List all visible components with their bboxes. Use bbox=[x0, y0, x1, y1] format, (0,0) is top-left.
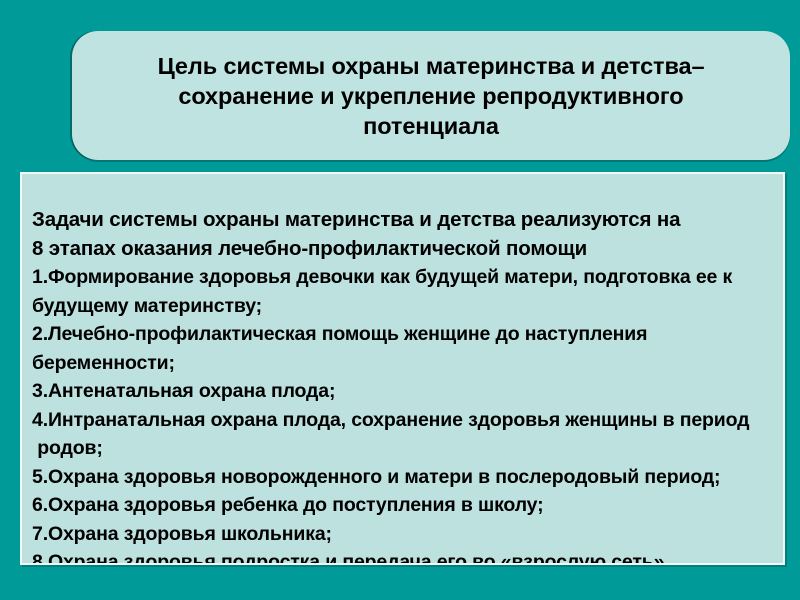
slide-title: Цель системы охраны материнства и детств… bbox=[111, 51, 751, 141]
list-item: 2.Лечебно-профилактическая помощь женщин… bbox=[32, 320, 779, 349]
content-text-block: Задачи системы охраны материнства и детс… bbox=[32, 206, 779, 565]
list-item: 4.Интранатальная охрана плода, сохранени… bbox=[32, 406, 779, 435]
list-item: 8.Охрана здоровья подростка и передача е… bbox=[32, 548, 779, 565]
title-panel: Цель системы охраны материнства и детств… bbox=[72, 31, 790, 160]
list-item: 7.Охрана здоровья школьника; bbox=[32, 520, 779, 549]
slide-canvas: Цель системы охраны материнства и детств… bbox=[0, 0, 800, 600]
lede-line: 8 этапах оказания лечебно-профилактическ… bbox=[32, 235, 779, 264]
list-item: 1.Формирование здоровья девочки как буду… bbox=[32, 263, 779, 292]
list-item: 5.Охрана здоровья новорожденного и матер… bbox=[32, 463, 779, 492]
list-item: родов; bbox=[32, 434, 779, 463]
list-item: 6.Охрана здоровья ребенка до поступления… bbox=[32, 491, 779, 520]
list-item: 3.Антенатальная охрана плода; bbox=[32, 377, 779, 406]
list-item: беременности; bbox=[32, 349, 779, 378]
lede-line: Задачи системы охраны материнства и детс… bbox=[32, 206, 779, 235]
content-panel: Задачи системы охраны материнства и детс… bbox=[20, 172, 785, 565]
list-item: будущему материнству; bbox=[32, 292, 779, 321]
